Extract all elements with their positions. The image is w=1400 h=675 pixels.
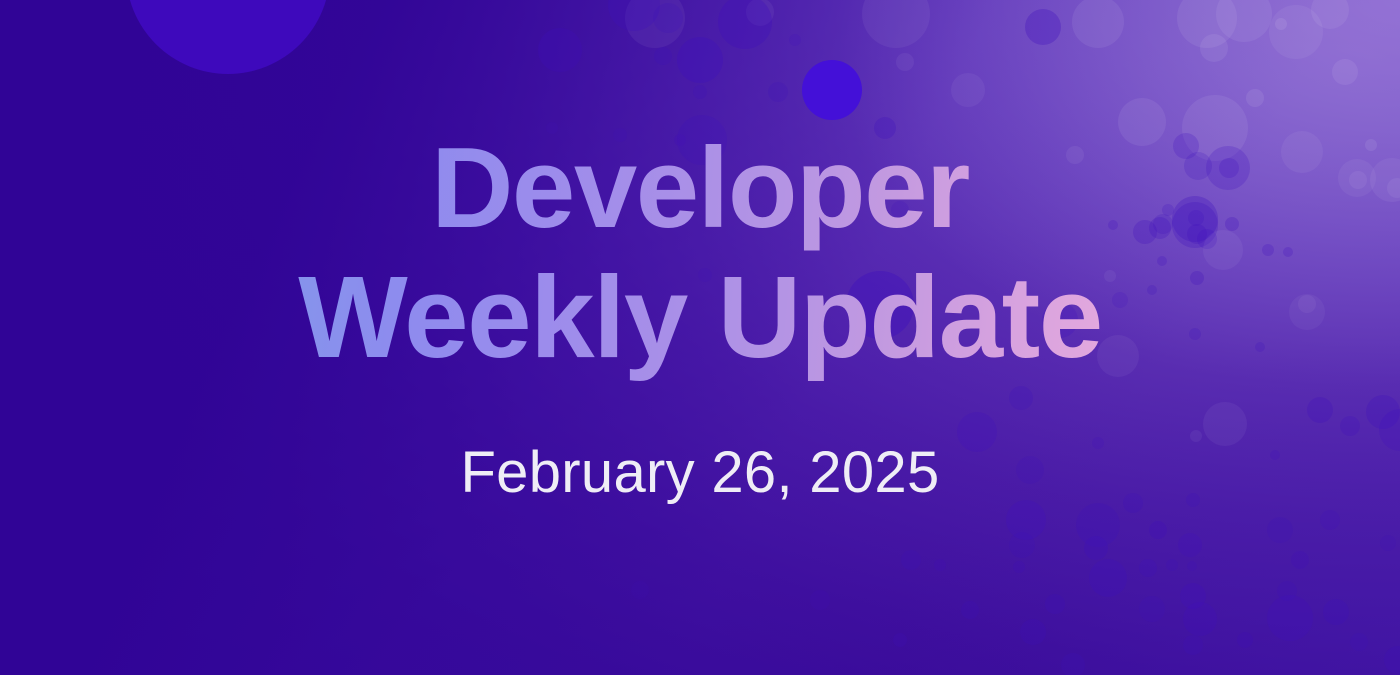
- title-line-developer: Developer: [298, 125, 1102, 253]
- banner-content: Developer Weekly Update February 26, 202…: [0, 0, 1400, 675]
- title-block: Developer Weekly Update: [298, 125, 1102, 383]
- banner-card: Developer Weekly Update February 26, 202…: [0, 0, 1400, 675]
- title-line-weekly-update: Weekly Update: [298, 253, 1102, 383]
- banner-date: February 26, 2025: [460, 439, 939, 506]
